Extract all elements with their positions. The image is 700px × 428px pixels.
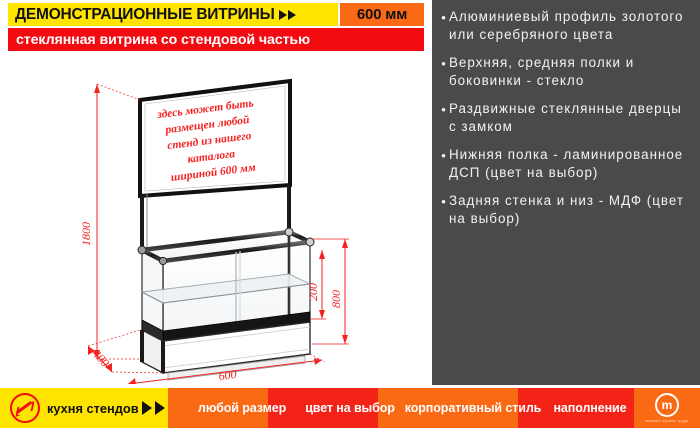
feature-item: • Алюминиевый профиль золотого или сереб… bbox=[438, 8, 692, 43]
dimension-height-total: 1800 bbox=[79, 222, 93, 246]
feature-item: • Нижняя полка - ламинированное ДСП (цве… bbox=[438, 146, 692, 181]
showcase-technical-drawing: здесь может быть размещен любой стенд из… bbox=[0, 54, 432, 384]
logo-mark-icon: m bbox=[655, 393, 679, 417]
subtitle-label: стеклянная витрина со стендовой частью bbox=[8, 32, 310, 48]
dimension-case-height: 800 bbox=[329, 290, 343, 308]
left-column: ДЕМОНСТРАЦИОННЫЕ ВИТРИНЫ 600 мм стеклянн… bbox=[0, 0, 432, 385]
footer-brand-label: кухня стендов bbox=[47, 401, 139, 416]
company-logo[interactable]: m магазин охраны труда bbox=[634, 388, 700, 428]
feature-item: • Задняя стенка и низ - МДФ (цвет на выб… bbox=[438, 192, 692, 227]
logo-letter: m bbox=[662, 399, 673, 411]
arrow-right-icon bbox=[279, 10, 287, 20]
dimension-top-section: 200 bbox=[306, 283, 320, 301]
bullet-icon: • bbox=[438, 100, 449, 135]
stand-panel: здесь может быть размещен любой стенд из… bbox=[140, 81, 290, 250]
footer-segment-label: наполнение bbox=[553, 401, 626, 415]
footer-segment-label: любой размер bbox=[198, 401, 286, 415]
feature-label: Раздвижные стеклянные дверцы с замком bbox=[449, 100, 692, 135]
feature-label: Задняя стенка и низ - МДФ (цвет на выбор… bbox=[449, 192, 692, 227]
drawing-svg: здесь может быть размещен любой стенд из… bbox=[0, 54, 432, 384]
feature-item: • Раздвижные стеклянные дверцы с замком bbox=[438, 100, 692, 135]
bullet-icon: • bbox=[438, 192, 449, 227]
feature-label: Верхняя, средняя полки и боковинки - сте… bbox=[449, 54, 692, 89]
arrow-right-icon bbox=[142, 401, 152, 415]
footer-segment-color-choice[interactable]: цвет на выбор bbox=[300, 388, 400, 428]
dimension-width: 600 bbox=[218, 367, 238, 383]
bullet-icon: • bbox=[438, 54, 449, 89]
footer-segment-corporate-style[interactable]: корпоративный стиль bbox=[408, 388, 538, 428]
page-title: ДЕМОНСТРАЦИОННЫЕ ВИТРИНЫ bbox=[8, 6, 275, 24]
arrow-right-icon bbox=[288, 10, 296, 20]
footer-ribbon: кухня стендов любой размер цвет на выбор… bbox=[0, 388, 700, 428]
footer-segment-label: цвет на выбор bbox=[305, 401, 395, 415]
title-bar: ДЕМОНСТРАЦИОННЫЕ ВИТРИНЫ bbox=[8, 3, 338, 26]
footer-segment-filling[interactable]: наполнение bbox=[542, 388, 638, 428]
bullet-icon: • bbox=[438, 146, 449, 181]
footer-segment-label: корпоративный стиль bbox=[405, 401, 542, 415]
size-badge-label: 600 мм bbox=[357, 6, 407, 23]
slide-root: ДЕМОНСТРАЦИОННЫЕ ВИТРИНЫ 600 мм стеклянн… bbox=[0, 0, 700, 428]
feature-label: Алюминиевый профиль золотого или серебря… bbox=[449, 8, 692, 43]
feature-label: Нижняя полка - ламинированное ДСП (цвет … bbox=[449, 146, 692, 181]
logo-caption: магазин охраны труда bbox=[646, 419, 689, 423]
title-arrows bbox=[278, 10, 296, 20]
arrow-right-icon bbox=[155, 401, 165, 415]
features-panel: • Алюминиевый профиль золотого или сереб… bbox=[432, 0, 700, 385]
feature-item: • Верхняя, средняя полки и боковинки - с… bbox=[438, 54, 692, 89]
size-badge: 600 мм bbox=[340, 3, 424, 26]
footer-brand-segment[interactable]: кухня стендов bbox=[0, 388, 180, 428]
subtitle-bar: стеклянная витрина со стендовой частью bbox=[8, 28, 424, 51]
footer-segment-any-size[interactable]: любой размер bbox=[196, 388, 288, 428]
bullet-icon: • bbox=[438, 8, 449, 43]
no-entry-icon bbox=[10, 393, 40, 423]
